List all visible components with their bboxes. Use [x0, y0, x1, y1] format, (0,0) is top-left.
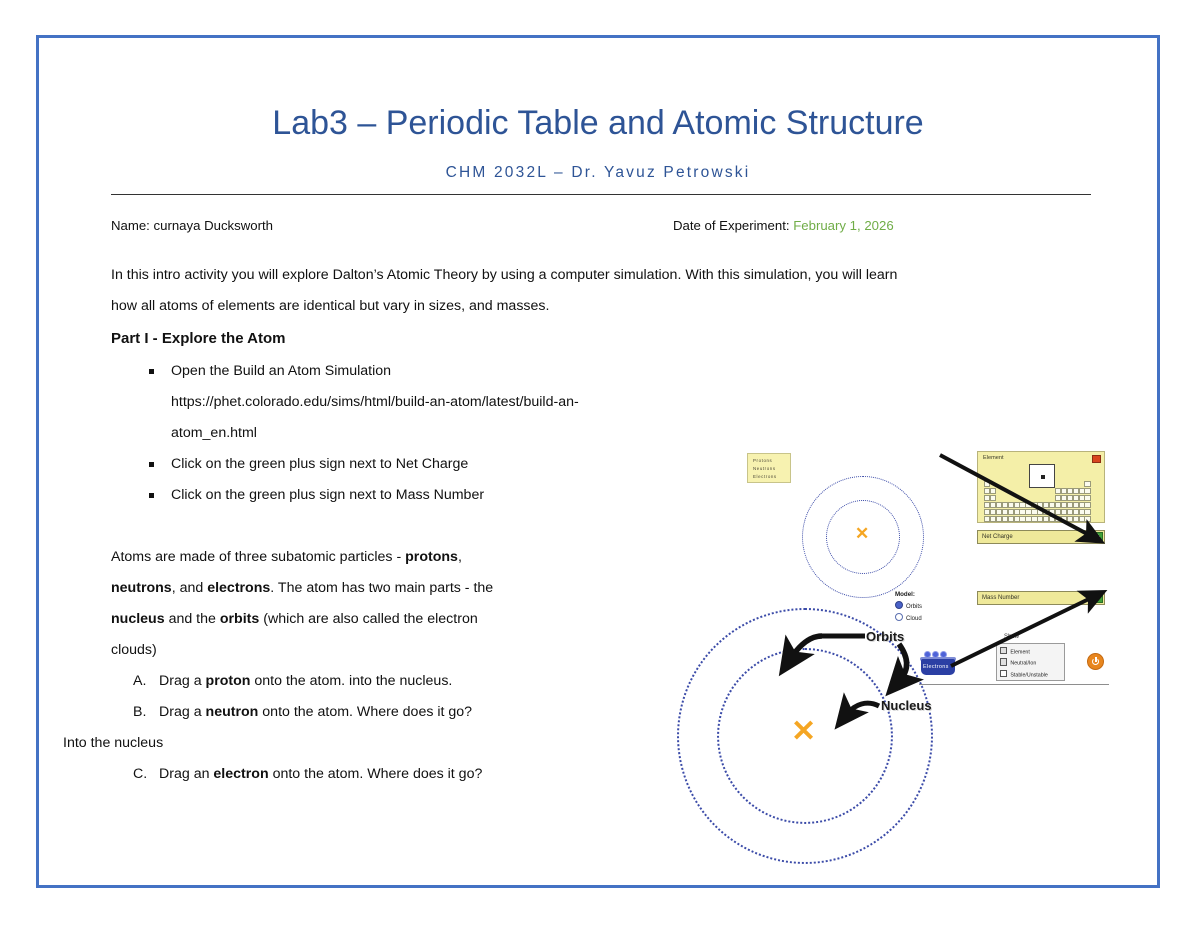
question-a-pre: Drag a	[159, 673, 206, 689]
atoms-p-l3d: (which are also called the electron	[259, 611, 477, 627]
question-b-marker: B.	[133, 697, 155, 728]
student-name-field: Name: curnaya Ducksworth	[111, 218, 273, 233]
section-heading-part1: Part I - Explore the Atom	[111, 322, 1111, 356]
question-b-bold: neutron	[206, 704, 259, 720]
name-value: curnaya Ducksworth	[154, 218, 273, 233]
intro-line-1: In this intro activity you will explore …	[111, 260, 1111, 291]
atoms-p-nucleus: nucleus	[111, 611, 165, 627]
document-page: Lab3 – Periodic Table and Atomic Structu…	[36, 35, 1160, 888]
atoms-p-l1a: Atoms are made of three subatomic partic…	[111, 549, 405, 565]
atoms-paragraph-line-3: nucleus and the orbits (which are also c…	[111, 604, 616, 635]
title-divider	[111, 194, 1091, 195]
annotation-arrows	[659, 408, 1129, 908]
question-b-post: onto the atom. Where does it go?	[258, 704, 472, 720]
square-bullet-icon	[149, 462, 154, 467]
bullet-1-line-1: Open the Build an Atom Simulation	[171, 356, 1111, 387]
question-c-post: onto the atom. Where does it go?	[269, 766, 483, 782]
page-title: Lab3 – Periodic Table and Atomic Structu…	[39, 38, 1157, 142]
question-a-post: onto the atom. into the nucleus.	[250, 673, 452, 689]
square-bullet-icon	[149, 493, 154, 498]
atoms-paragraph-line-1: Atoms are made of three subatomic partic…	[111, 542, 616, 573]
date-value: February 1, 2026	[793, 218, 893, 233]
atoms-p-neutrons: neutrons	[111, 580, 172, 596]
square-bullet-icon	[149, 369, 154, 374]
question-c-pre: Drag an	[159, 766, 213, 782]
date-label: Date of Experiment:	[673, 218, 790, 233]
atoms-p-l2d: . The atom has two main parts - the	[270, 580, 493, 596]
intro-line-2: how all atoms of elements are identical …	[111, 291, 1111, 322]
question-a-marker: A.	[133, 666, 155, 697]
atoms-p-l1c: ,	[458, 549, 462, 565]
atoms-p-l3b: and the	[165, 611, 220, 627]
question-a-bold: proton	[206, 673, 251, 689]
question-c-bold: electron	[213, 766, 268, 782]
atoms-paragraph-line-2: neutrons, and electrons. The atom has tw…	[111, 573, 616, 604]
atoms-p-l2b: , and	[172, 580, 208, 596]
atoms-paragraph-line-4: clouds)	[111, 635, 616, 666]
name-label: Name:	[111, 218, 150, 233]
atoms-p-orbits: orbits	[220, 611, 259, 627]
question-c-marker: C.	[133, 759, 155, 790]
question-b-pre: Drag a	[159, 704, 206, 720]
experiment-date-field: Date of Experiment: February 1, 2026	[673, 218, 894, 233]
atoms-p-electrons: electrons	[207, 580, 270, 596]
atoms-p-protons: protons	[405, 549, 458, 565]
simulation-screenshot-figure: Protons Neutrons Electrons ✕ ✕ Element	[659, 408, 1129, 908]
page-subtitle: CHM 2032L – Dr. Yavuz Petrowski	[39, 142, 1157, 182]
